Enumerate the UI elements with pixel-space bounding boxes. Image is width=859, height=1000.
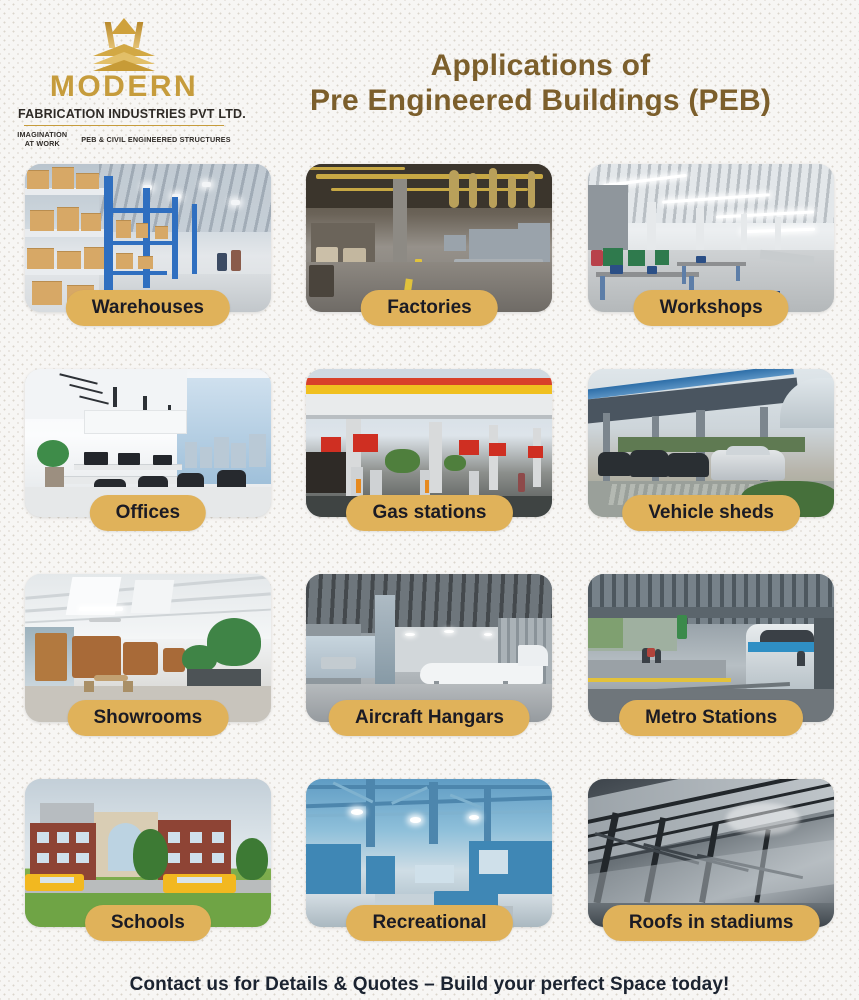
header: MODERN FABRICATION INDUSTRIES PVT LTD. I…: [0, 0, 859, 160]
application-card[interactable]: Workshops: [588, 164, 834, 369]
card-label[interactable]: Factories: [361, 290, 497, 326]
application-card[interactable]: Showrooms: [25, 574, 271, 779]
card-label[interactable]: Warehouses: [66, 290, 230, 326]
application-card[interactable]: Recreational: [306, 779, 552, 984]
application-card[interactable]: Gas stations: [306, 369, 552, 574]
application-card[interactable]: Offices: [25, 369, 271, 574]
card-label[interactable]: Aircraft Hangars: [329, 700, 530, 736]
footer-cta: Contact us for Details & Quotes – Build …: [0, 974, 859, 996]
card-label[interactable]: Roofs in stadiums: [603, 905, 820, 941]
card-label[interactable]: Metro Stations: [619, 700, 803, 736]
application-card[interactable]: Roofs in stadiums: [588, 779, 834, 984]
brand-services: PEB & CIVIL ENGINEERED STRUCTURES: [81, 135, 230, 144]
brand-tagline: IMAGINATION AT WORK PEB & CIVIL ENGINEER…: [18, 130, 230, 148]
building-chevron-logo-icon: [92, 18, 156, 68]
card-label[interactable]: Workshops: [634, 290, 789, 326]
page-title-line1: Applications of: [230, 48, 851, 83]
card-label[interactable]: Schools: [85, 905, 211, 941]
card-label[interactable]: Recreational: [346, 905, 512, 941]
brand-tagline-line2: AT WORK: [17, 139, 67, 148]
brand-lockup: MODERN FABRICATION INDUSTRIES PVT LTD. I…: [0, 0, 230, 148]
brand-subtitle: FABRICATION INDUSTRIES PVT LTD.: [18, 107, 230, 121]
applications-grid: Warehouses: [0, 160, 859, 984]
application-card[interactable]: Vehicle sheds: [588, 369, 834, 574]
application-card[interactable]: Metro Stations: [588, 574, 834, 779]
card-label[interactable]: Showrooms: [67, 700, 228, 736]
brand-divider: [24, 125, 224, 126]
application-card[interactable]: Factories: [306, 164, 552, 369]
brand-name: MODERN: [18, 72, 230, 102]
application-card[interactable]: Schools: [25, 779, 271, 984]
card-label[interactable]: Offices: [90, 495, 206, 531]
application-card[interactable]: Aircraft Hangars: [306, 574, 552, 779]
page-title-line2: Pre Engineered Buildings (PEB): [230, 83, 851, 118]
card-label[interactable]: Vehicle sheds: [622, 495, 800, 531]
brand-tagline-line1: IMAGINATION: [17, 130, 67, 139]
card-label[interactable]: Gas stations: [346, 495, 512, 531]
application-card[interactable]: Warehouses: [25, 164, 271, 369]
page-title: Applications of Pre Engineered Buildings…: [230, 0, 859, 119]
